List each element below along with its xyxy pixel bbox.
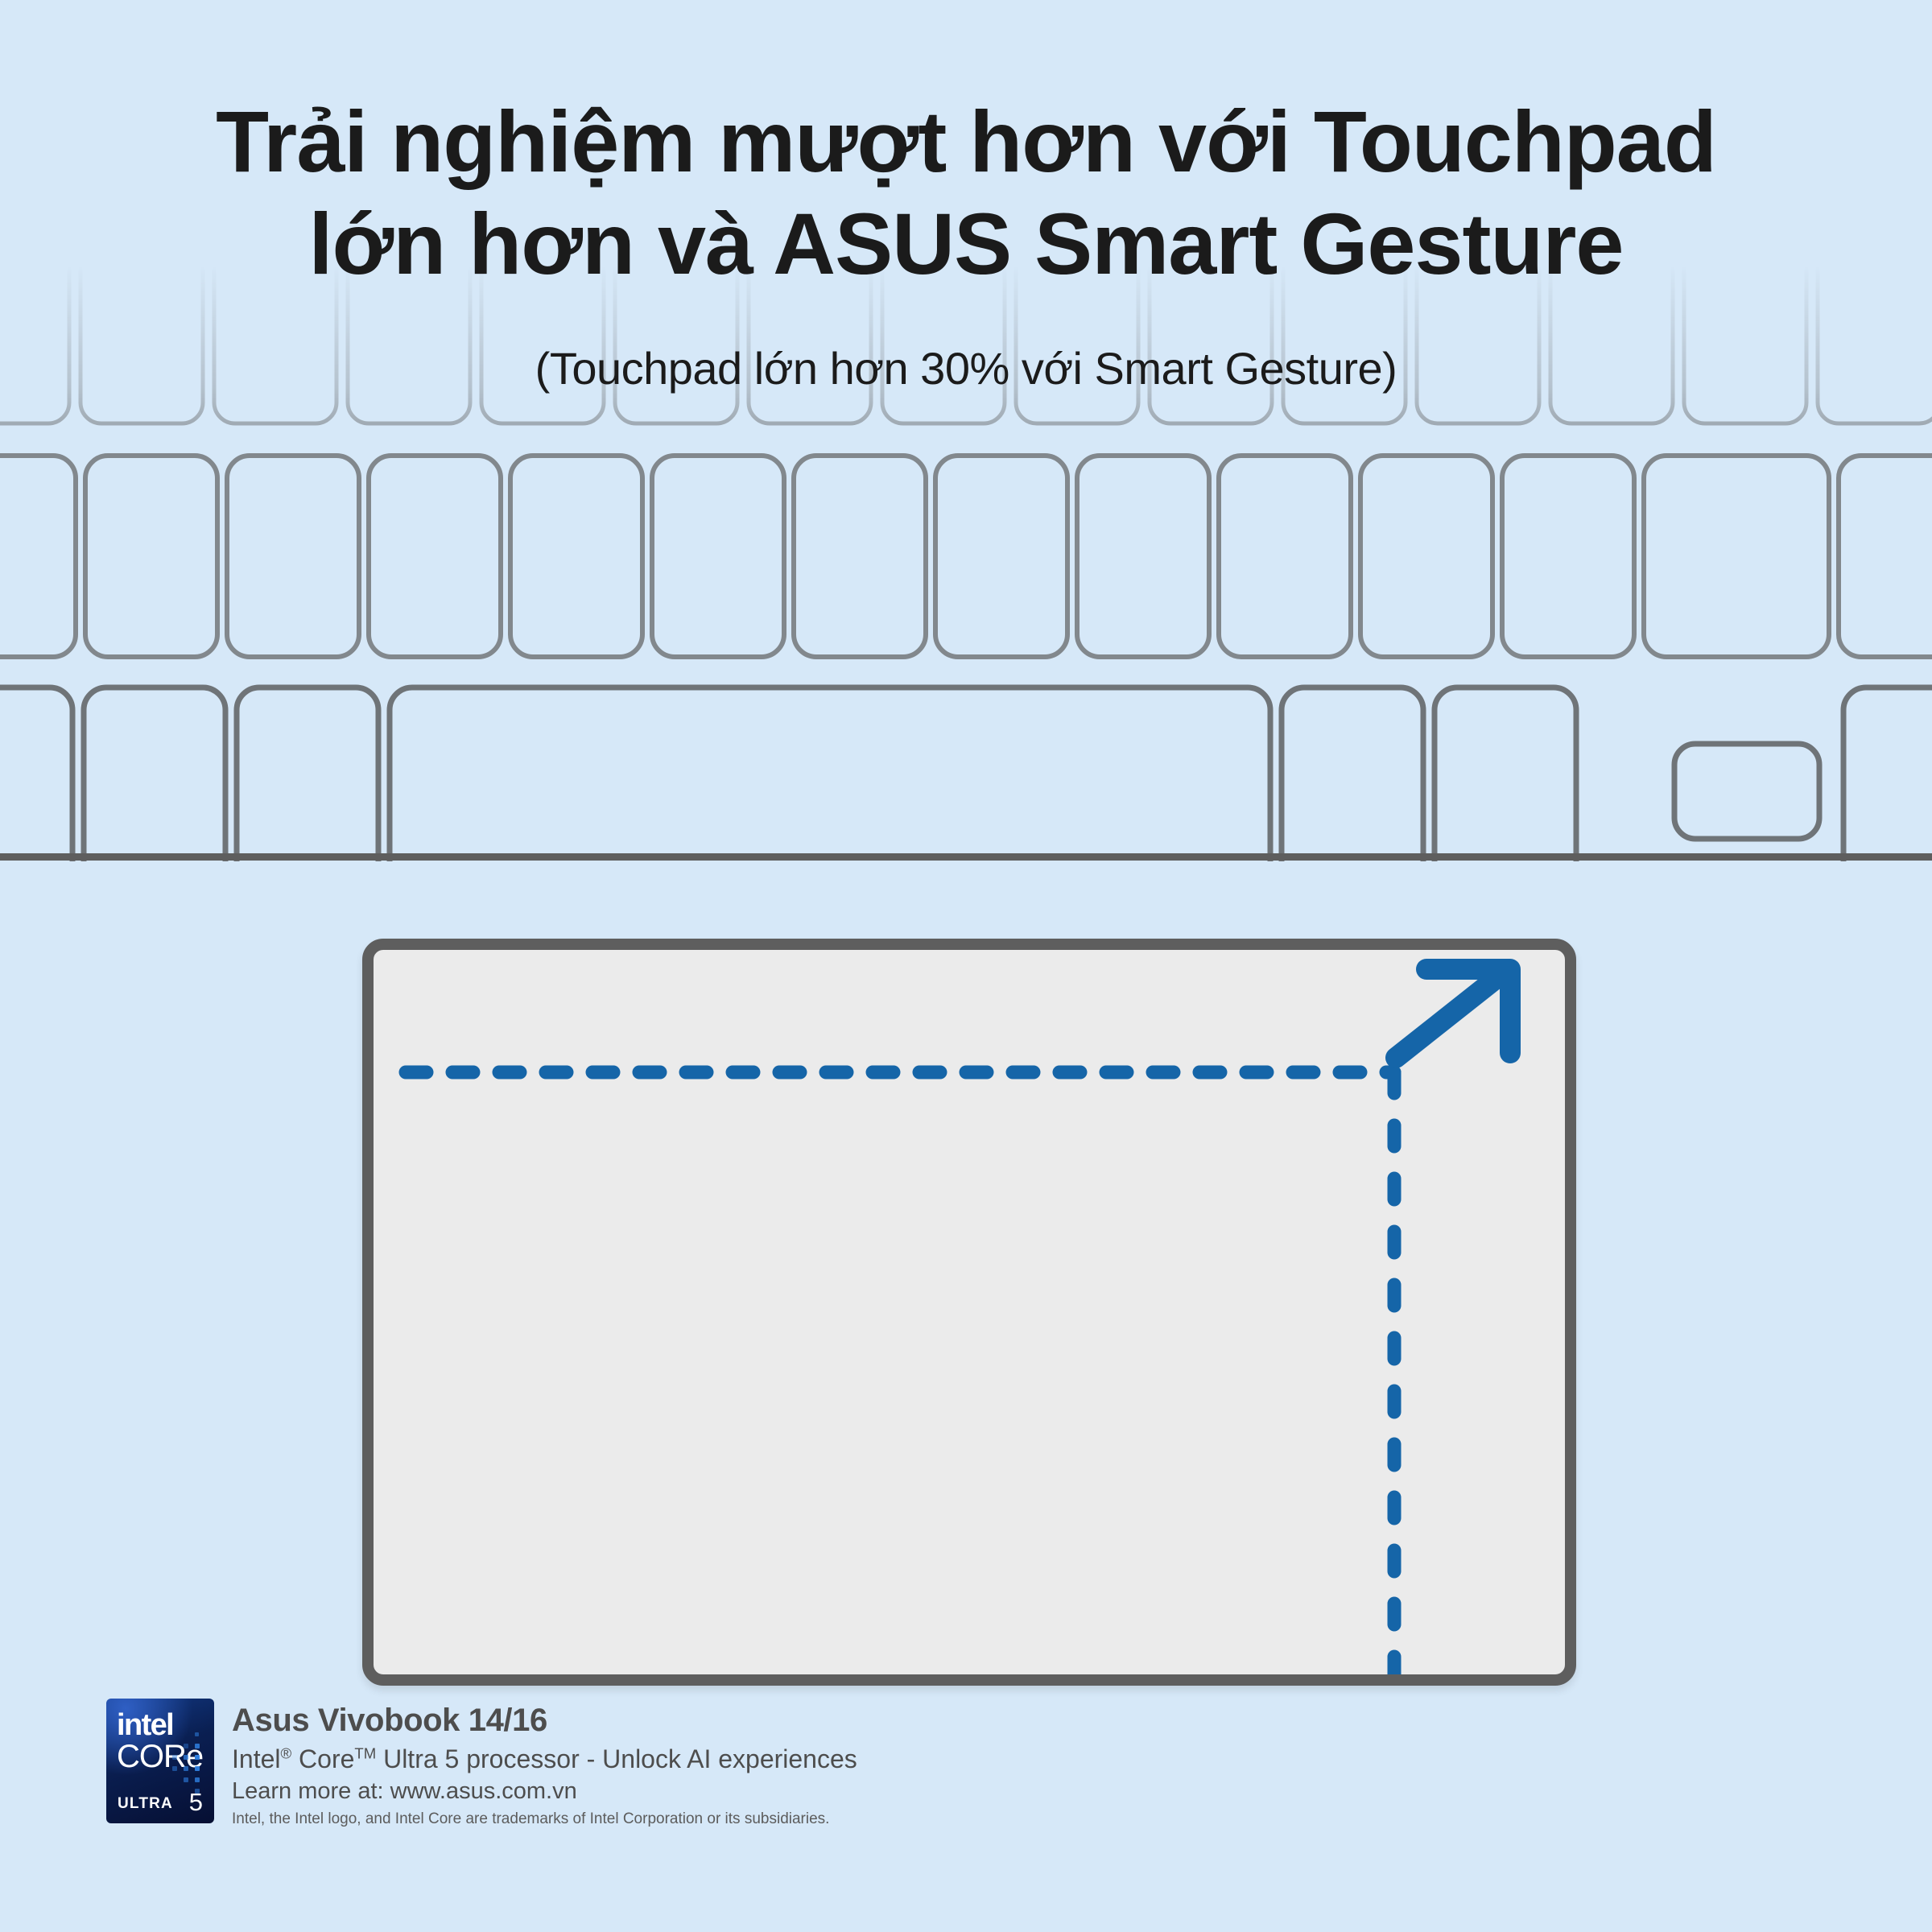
headline-line-1: Trải nghiệm mượt hơn với Touchpad <box>0 90 1932 192</box>
processor-mid: Core <box>291 1744 354 1773</box>
keyboard-deck-divider <box>0 853 1932 861</box>
intel-core-ultra-badge: intel CORe ULTRA 5 <box>106 1699 214 1823</box>
headline-line-2: lớn hơn và ASUS Smart Gesture <box>0 192 1932 295</box>
processor-suffix: Ultra 5 processor - Unlock AI experience… <box>376 1744 857 1773</box>
headline-block: Trải nghiệm mượt hơn với Touchpad lớn hơ… <box>0 0 1932 394</box>
trademark-notice: Intel, the Intel logo, and Intel Core ar… <box>232 1810 857 1829</box>
trademark-mark: TM <box>354 1744 376 1761</box>
badge-dot-grid <box>163 1731 208 1808</box>
registered-mark: ® <box>280 1744 291 1761</box>
processor-description: Intel® CoreTM Ultra 5 processor - Unlock… <box>232 1744 857 1774</box>
touchpad-surface[interactable] <box>362 939 1576 1686</box>
promo-banner: Trải nghiệm mượt hơn với Touchpad lớn hơ… <box>0 0 1932 1932</box>
subtitle: (Touchpad lớn hơn 30% với Smart Gesture) <box>0 295 1932 394</box>
footer-text-block: Asus Vivobook 14/16 Intel® CoreTM Ultra … <box>232 1699 857 1829</box>
footer: intel CORe ULTRA 5 <box>106 1699 857 1829</box>
page-title: Trải nghiệm mượt hơn với Touchpad lớn hơ… <box>0 0 1932 295</box>
diagonal-swipe-arrow <box>1396 969 1510 1058</box>
learn-more-link[interactable]: Learn more at: www.asus.com.vn <box>232 1777 857 1806</box>
processor-prefix: Intel <box>232 1744 280 1773</box>
product-name: Asus Vivobook 14/16 <box>232 1702 857 1739</box>
